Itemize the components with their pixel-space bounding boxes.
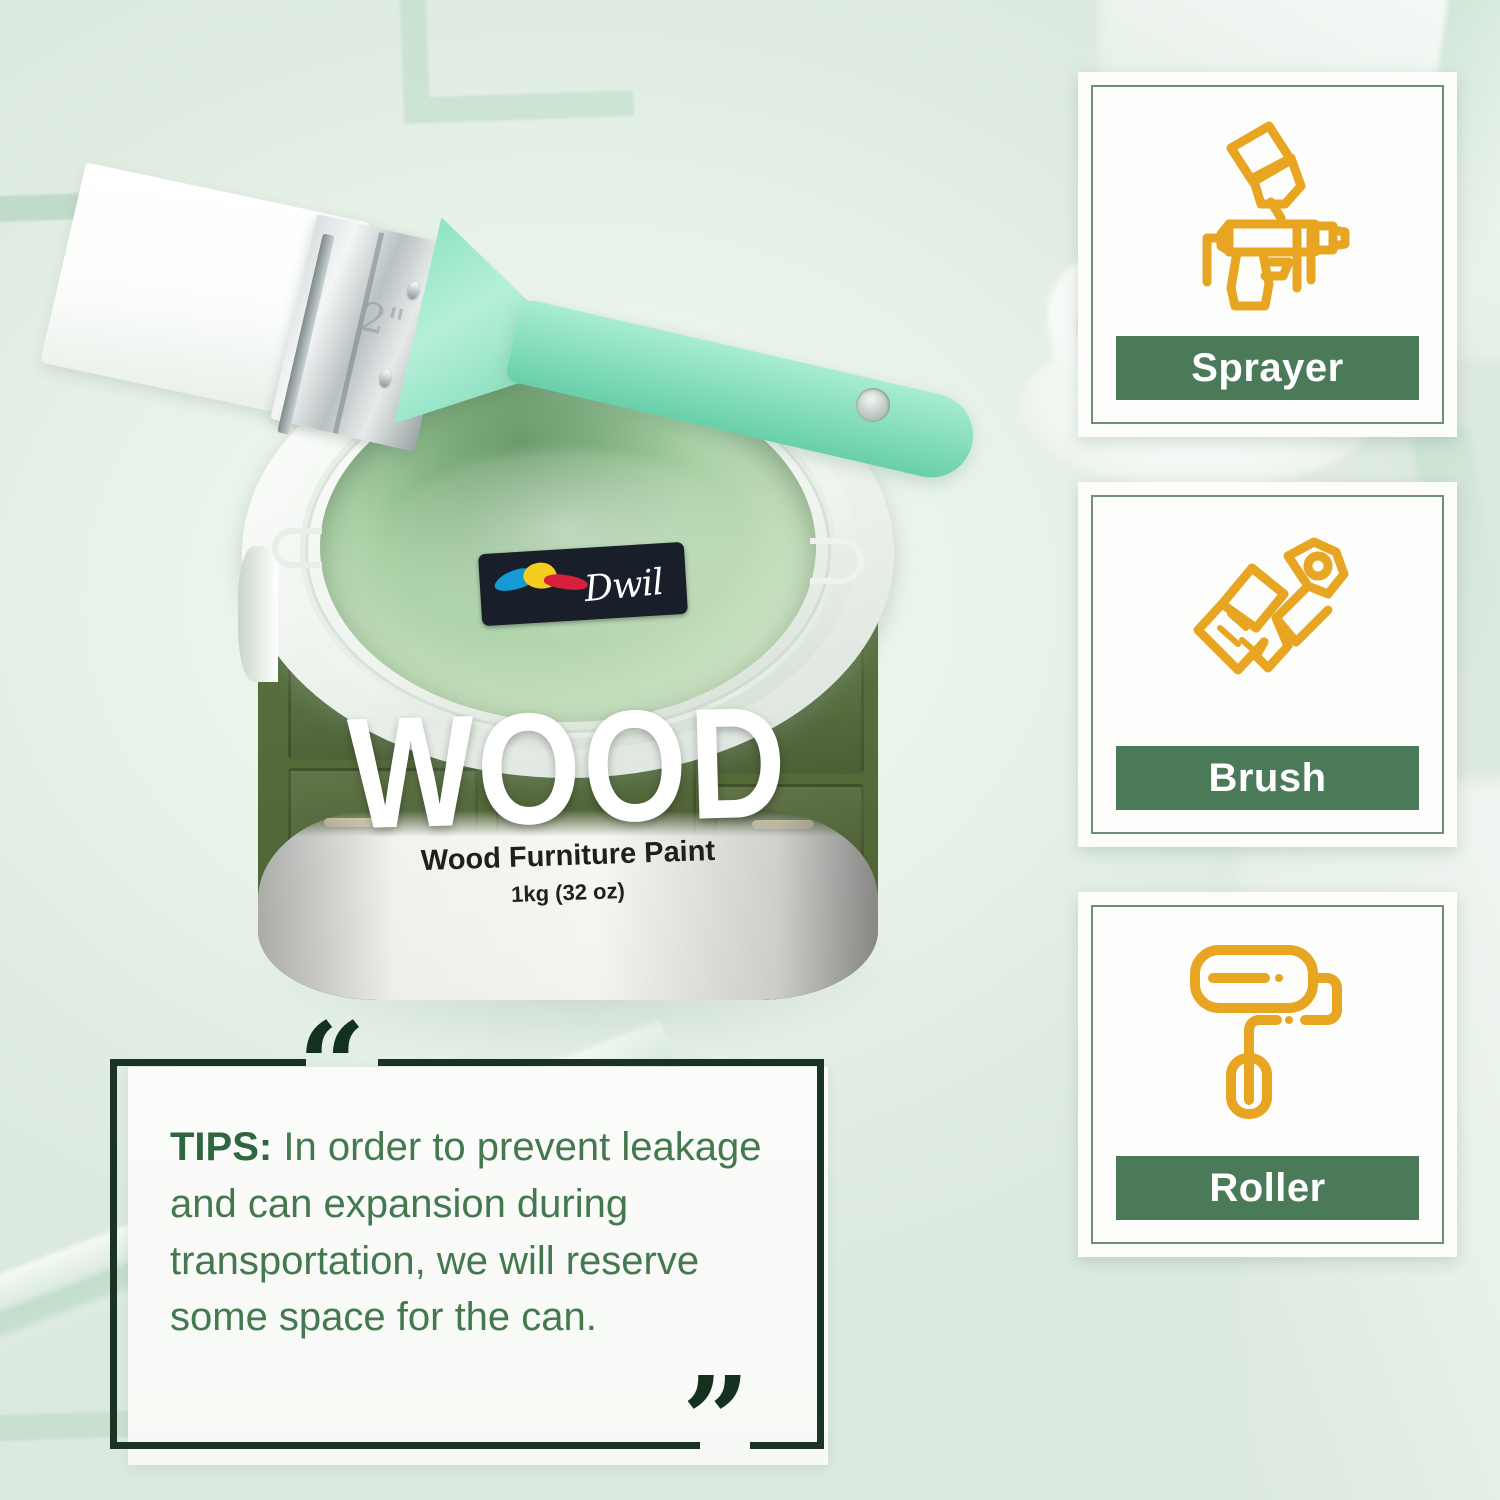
- tool-card-inner-border: Brush: [1091, 495, 1444, 834]
- paint-brush: 2": [60, 180, 1020, 500]
- tips-frame-bottom-right: [750, 1442, 824, 1449]
- can-rim-lip: [238, 546, 278, 682]
- tool-card-label: Brush: [1116, 746, 1420, 810]
- tips-frame-top-right: [378, 1059, 824, 1066]
- can-handle-ear-left: [272, 528, 322, 568]
- tool-card-inner-border: Roller: [1091, 905, 1444, 1244]
- brand-name: Dwil: [582, 562, 664, 610]
- tips-quote-box: “ ” TIPS: In order to prevent leakage an…: [110, 1045, 830, 1465]
- paint-brush-icon: [1093, 497, 1442, 746]
- brand-logo-badge: Dwil: [478, 542, 688, 626]
- tips-frame-left: [110, 1059, 117, 1449]
- can-handle-ear-right: [810, 538, 864, 584]
- tool-card-inner-border: Sprayer: [1091, 85, 1444, 424]
- open-quote-icon: “: [298, 1007, 366, 1125]
- tool-card-label: Roller: [1116, 1156, 1420, 1220]
- close-quote-icon: ”: [682, 1361, 750, 1479]
- tool-card-roller[interactable]: Roller: [1078, 892, 1457, 1257]
- tips-text: TIPS: In order to prevent leakage and ca…: [170, 1119, 780, 1346]
- tips-prefix: TIPS:: [170, 1125, 272, 1169]
- background-chevron-shape: [396, 0, 634, 124]
- tips-frame-right: [817, 1059, 824, 1449]
- tool-card-sprayer[interactable]: Sprayer: [1078, 72, 1457, 437]
- tool-card-label: Sprayer: [1116, 336, 1420, 400]
- brush-handle: [505, 298, 982, 486]
- tips-frame-top-left: [110, 1059, 306, 1066]
- spray-gun-icon: [1093, 87, 1442, 336]
- tool-card-brush[interactable]: Brush: [1078, 482, 1457, 847]
- paint-roller-icon: [1093, 907, 1442, 1156]
- logo-swoosh-red-icon: [543, 572, 589, 592]
- tips-frame-bottom-left: [110, 1442, 700, 1449]
